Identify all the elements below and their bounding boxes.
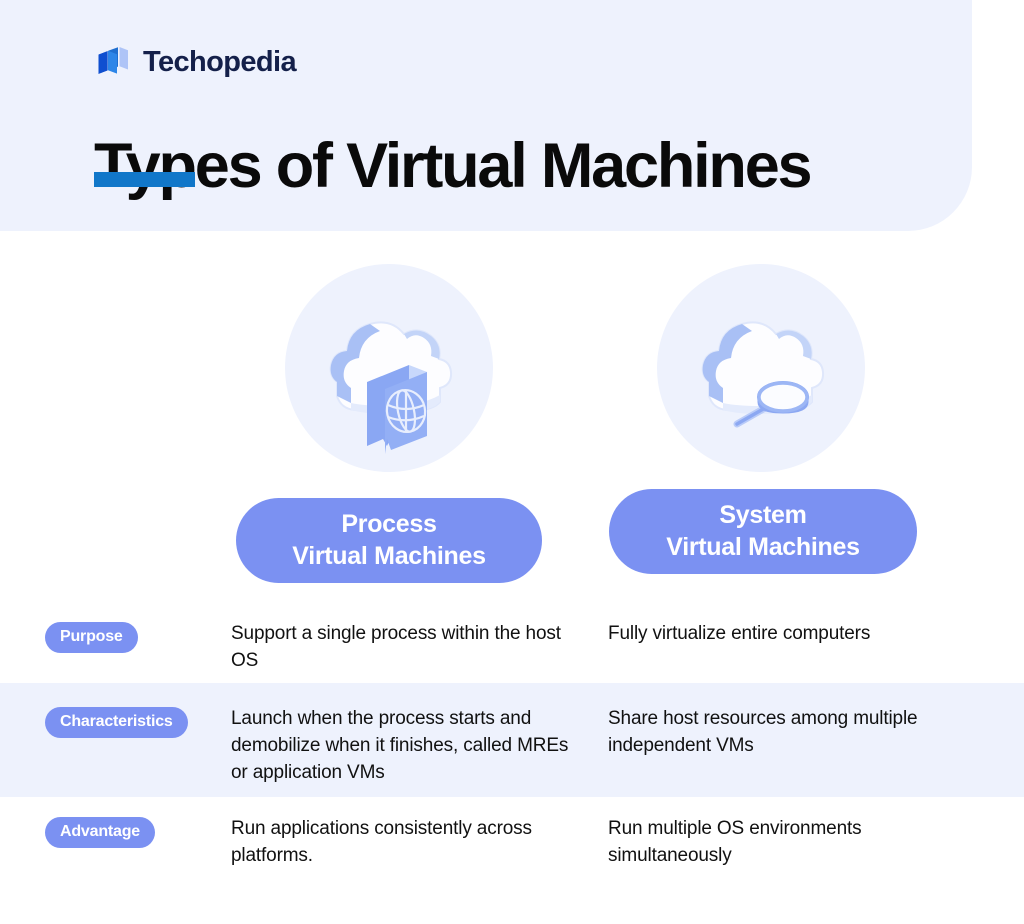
cell-advantage-process: Run applications consistently across pla…	[231, 816, 576, 870]
column-header-process[interactable]: Process Virtual Machines	[236, 498, 542, 583]
comparison-table: Purpose Support a single process within …	[0, 600, 1024, 907]
cell-advantage-system: Run multiple OS environments simultaneou…	[608, 816, 958, 870]
row-label-characteristics: Characteristics	[45, 707, 188, 738]
cloud-globe-icon	[285, 264, 493, 472]
title-underline-accent	[94, 172, 195, 187]
table-row: Characteristics Launch when the process …	[0, 683, 1024, 797]
column-header-system[interactable]: System Virtual Machines	[609, 489, 917, 574]
column-header-row: Process Virtual Machines System Virtual …	[0, 494, 1024, 588]
brand-logo[interactable]: Techopedia	[94, 43, 296, 81]
page-title: Types of Virtual Machines	[94, 132, 810, 201]
illustration-row	[0, 264, 1024, 474]
cell-purpose-system: Fully virtualize entire computers	[608, 621, 958, 648]
cell-characteristics-process: Launch when the process starts and demob…	[231, 706, 576, 787]
row-label-purpose: Purpose	[45, 622, 138, 653]
cell-purpose-process: Support a single process within the host…	[231, 621, 576, 675]
column-header-process-line1: Process	[341, 509, 436, 540]
column-header-process-line2: Virtual Machines	[292, 541, 485, 572]
column-header-system-line1: System	[719, 500, 806, 531]
column-header-system-line2: Virtual Machines	[666, 532, 859, 563]
table-row: Advantage Run applications consistently …	[0, 797, 1024, 907]
cloud-magnifier-icon	[657, 264, 865, 472]
cell-characteristics-system: Share host resources among multiple inde…	[608, 706, 958, 760]
header-banner: Techopedia Types of Virtual Machines	[0, 0, 972, 231]
techopedia-logo-mark	[94, 43, 132, 81]
row-label-advantage: Advantage	[45, 817, 155, 848]
brand-name: Techopedia	[143, 48, 296, 77]
table-row: Purpose Support a single process within …	[0, 600, 1024, 683]
